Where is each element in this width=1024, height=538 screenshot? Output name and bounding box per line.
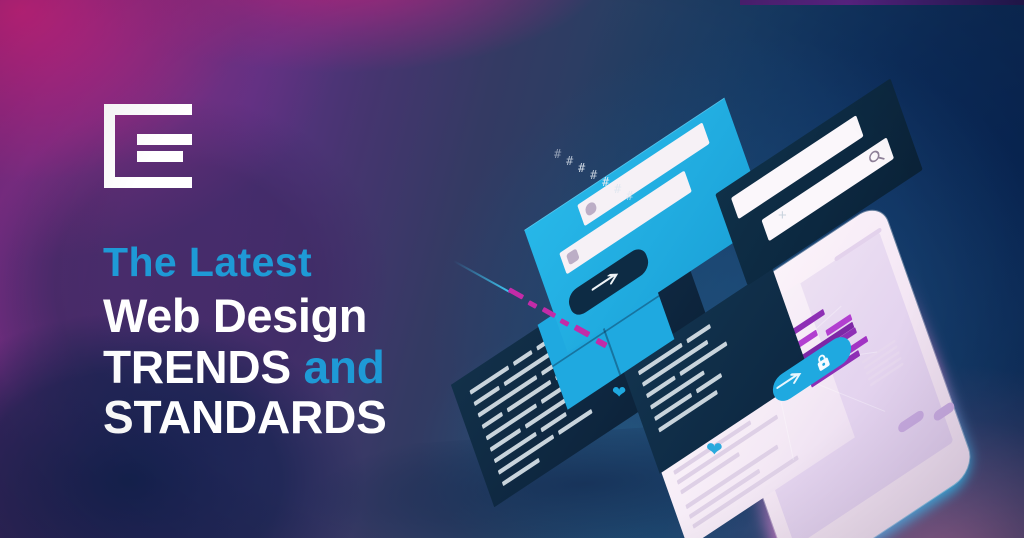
vignette-overlay — [0, 0, 1024, 538]
banner-canvas: The Latest Web Design TRENDS and STANDAR… — [0, 0, 1024, 538]
